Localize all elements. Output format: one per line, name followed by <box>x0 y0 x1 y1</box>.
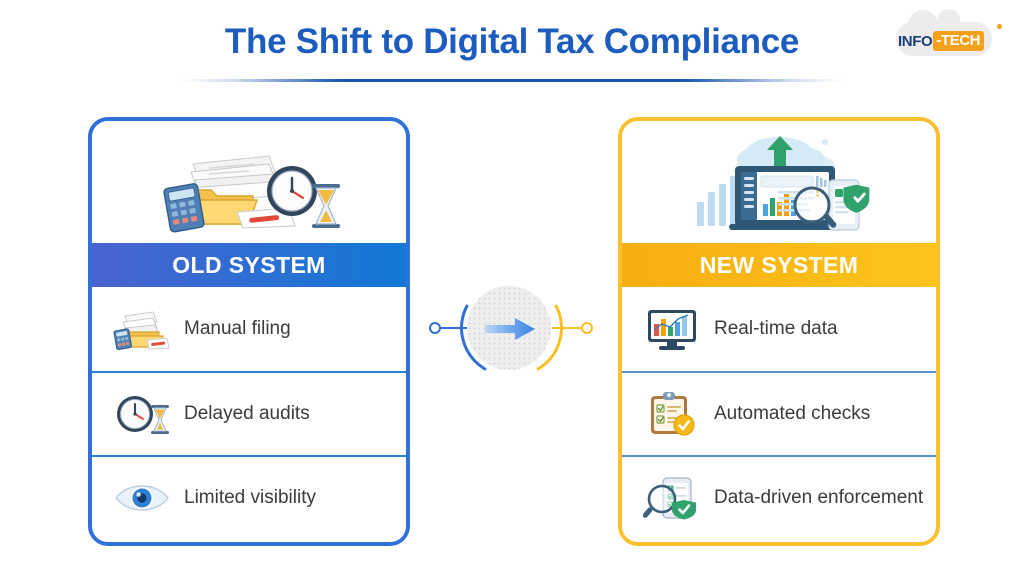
list-item[interactable]: Automated checks <box>622 371 936 455</box>
list-item-label: Limited visibility <box>178 487 316 509</box>
eye-icon <box>106 470 178 526</box>
new-system-header: NEW SYSTEM <box>622 243 936 287</box>
blue-endpoint-dot <box>429 322 441 334</box>
new-system-list: Real-time data <box>622 287 936 539</box>
right-arrow-icon <box>485 318 535 340</box>
logo-tech-text: -TECH <box>933 31 984 51</box>
old-system-header: OLD SYSTEM <box>92 243 406 287</box>
list-item-label: Automated checks <box>708 403 870 425</box>
list-item[interactable]: Real-time data <box>622 287 936 371</box>
transition-connector <box>425 278 597 378</box>
amber-endpoint-dot <box>581 322 593 334</box>
paper-stack-folder-calculator-clock-hourglass-icon <box>149 128 349 236</box>
list-item-label: Delayed audits <box>178 403 310 425</box>
logo-text: INFO -TECH <box>898 31 984 51</box>
slide-canvas: The Shift to Digital Tax Compliance INFO… <box>0 0 1024 585</box>
new-system-illustration <box>622 121 936 243</box>
monitor-chart-icon <box>636 301 708 357</box>
papers-folder-calculator-icon <box>106 301 178 357</box>
new-system-card: NEW SYSTEM <box>618 117 940 546</box>
list-item[interactable]: Manual filing <box>92 287 406 371</box>
list-item[interactable]: Delayed audits <box>92 371 406 455</box>
list-item-label: Data-driven enforcement <box>708 487 923 509</box>
page-title: The Shift to Digital Tax Compliance <box>0 22 1024 62</box>
brand-logo: INFO -TECH <box>890 18 1006 62</box>
clipboard-check-badge-icon <box>636 386 708 442</box>
magnifier-checklist-shield-icon <box>636 470 708 526</box>
old-system-list: Manual filing <box>92 287 406 539</box>
list-item-label: Manual filing <box>178 318 291 340</box>
list-item-label: Real-time data <box>708 318 838 340</box>
page-title-wrap: The Shift to Digital Tax Compliance <box>0 22 1024 62</box>
title-underline <box>182 79 842 82</box>
logo-info-text: INFO <box>898 33 932 50</box>
list-item[interactable]: Data-driven enforcement <box>622 455 936 539</box>
clock-hourglass-icon <box>106 386 178 442</box>
old-system-illustration <box>92 121 406 243</box>
list-item[interactable]: Limited visibility <box>92 455 406 539</box>
cloud-upload-dashboard-phone-magnifier-shield-icon <box>679 128 879 236</box>
registered-mark-icon <box>997 24 1002 29</box>
old-system-card: OLD SYSTEM <box>88 117 410 546</box>
